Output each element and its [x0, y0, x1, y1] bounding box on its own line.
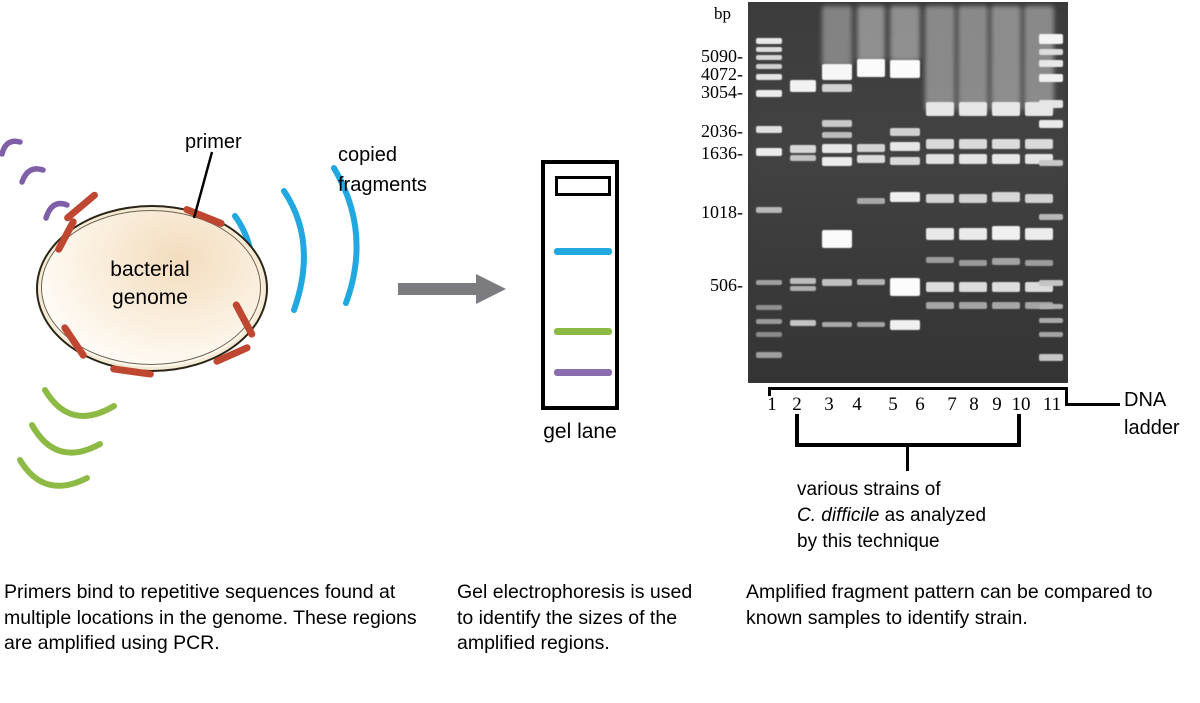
gel-lane-7 — [958, 2, 988, 383]
bp-marker-3054: 3054- — [663, 82, 743, 103]
ladder-bracket-tick-l — [768, 387, 771, 396]
strains-bracket-stem — [906, 443, 909, 471]
species-name: C. difficile — [797, 505, 879, 526]
gel-lane-8 — [991, 2, 1021, 383]
lane-number-7: 7 — [940, 394, 964, 416]
lane-number-9: 9 — [985, 394, 1009, 416]
bp-marker-2036: 2036- — [663, 121, 743, 142]
lane-number-6: 6 — [908, 394, 932, 416]
gel-lane-4 — [856, 2, 886, 383]
pcr-strain-typing-figure: bacterial genome primer copied fragments — [0, 0, 1200, 703]
lane-number-5: 5 — [881, 394, 905, 416]
strains-line3: by this technique — [797, 529, 986, 555]
lane-number-2: 2 — [785, 394, 809, 416]
lane-number-8: 8 — [962, 394, 986, 416]
lane-number-10: 10 — [1009, 394, 1033, 416]
bp-marker-1018: 1018- — [663, 202, 743, 223]
lane-number-1: 1 — [760, 394, 784, 416]
captions-row: Primers bind to repetitive sequences fou… — [0, 560, 1200, 703]
strains-bracket-right — [1017, 414, 1021, 446]
gel-photo-panel: bp 5090- 4072- 3054- 2036- 1636- 1018- 5… — [0, 0, 1200, 560]
strains-line2-rest: as analyzed — [879, 505, 986, 526]
dna-ladder-line2: ladder — [1124, 414, 1180, 442]
ladder-bracket-top — [768, 387, 1068, 390]
strains-label: various strains of C. difficile as analy… — [797, 477, 986, 555]
gel-lane-1 — [754, 2, 784, 383]
caption-step-1: Primers bind to repetitive sequences fou… — [4, 580, 434, 657]
strains-line1: various strains of — [797, 477, 986, 503]
bp-marker-1636: 1636- — [663, 143, 743, 164]
gel-lane-11 — [1038, 2, 1064, 383]
gel-lane-5 — [889, 2, 921, 383]
gel-lane-2 — [788, 2, 818, 383]
strains-bracket-left — [795, 414, 799, 446]
caption-step-3: Amplified fragment pattern can be compar… — [746, 580, 1166, 631]
dna-ladder-line1: DNA — [1124, 386, 1180, 414]
caption-step-2: Gel electrophoresis is used to identify … — [457, 580, 697, 657]
gel-photograph-image — [748, 2, 1068, 383]
gel-lane-3 — [821, 2, 853, 383]
gel-lane-6 — [925, 2, 955, 383]
lane-number-11: 11 — [1040, 394, 1064, 416]
bp-unit-label: bp — [714, 4, 731, 24]
lane-number-3: 3 — [817, 394, 841, 416]
ladder-leader-line — [1065, 403, 1120, 406]
strains-line2: C. difficile as analyzed — [797, 503, 986, 529]
bp-marker-506: 506- — [663, 275, 743, 296]
lane-number-4: 4 — [845, 394, 869, 416]
dna-ladder-label: DNA ladder — [1124, 386, 1180, 442]
